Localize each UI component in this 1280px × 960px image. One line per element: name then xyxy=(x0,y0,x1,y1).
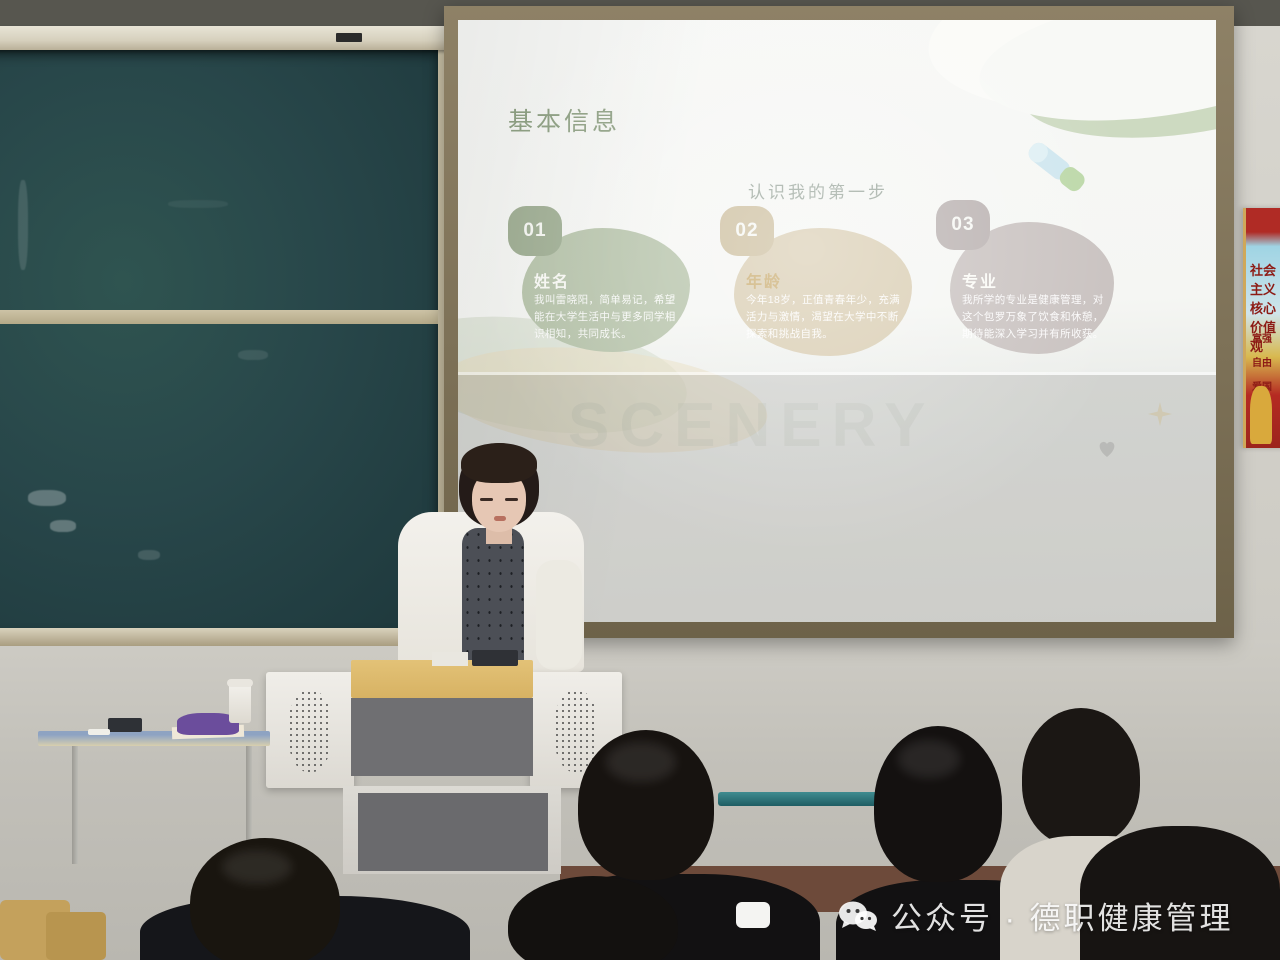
card-03-body: 我所学的专业是健康管理，对这个包罗万象了饮食和休憩，期待能深入学习并有所收获。 xyxy=(962,292,1106,343)
face-mask xyxy=(736,902,770,928)
student-head-far-right xyxy=(1022,708,1140,846)
slide-card-03: 03 专业 我所学的专业是健康管理，对这个包罗万象了饮食和休憩，期待能深入学习并… xyxy=(936,200,1136,368)
blackboard-chalk-ledge xyxy=(0,628,458,646)
slide-subtitle: 认识我的第一步 xyxy=(748,178,888,203)
card-02-badge: 02 xyxy=(720,206,774,256)
podium-front-panel xyxy=(351,698,533,776)
slide-card-02: 02 年龄 今年18岁，正值青春年少，充满活力与激情，渴望在大学中不断探索和挑战… xyxy=(720,206,930,370)
watermark: 公众号 · 德职健康管理 xyxy=(838,893,1234,938)
slide-title: 基本信息 xyxy=(508,102,620,138)
blackboard-label-plate xyxy=(336,33,362,42)
board-eraser xyxy=(108,718,142,732)
poster-statue-figure xyxy=(1250,386,1272,444)
podium-left-wing xyxy=(266,672,354,788)
card-02-heading: 年龄 xyxy=(746,268,782,292)
wechat-icon xyxy=(838,900,878,932)
poster-line-2: 自由 xyxy=(1252,354,1272,369)
chalk-stick xyxy=(88,729,110,735)
slide-card-01: 01 姓名 我叫雷晓阳，简单易记，希望能在大学生活中与更多同学相识相知，共同成长… xyxy=(508,206,708,366)
classroom-scene: SCENERY 基本信息 认识我的第一步 01 姓名 我叫雷晓阳，简单易记，希望… xyxy=(0,0,1280,960)
card-01-badge: 01 xyxy=(508,206,562,256)
card-03-heading: 专业 xyxy=(962,268,998,292)
card-01-body: 我叫雷晓阳，简单易记，希望能在大学生活中与更多同学相识相知，共同成长。 xyxy=(534,292,684,343)
podium-papers xyxy=(432,652,468,666)
desk-cup xyxy=(229,683,251,723)
card-03-badge: 03 xyxy=(936,200,990,250)
chair-back-left-2 xyxy=(46,912,106,960)
podium-base-panel xyxy=(358,793,548,871)
desk-leg-left xyxy=(72,746,78,864)
blackboard-top-rail xyxy=(0,26,450,50)
podium-device xyxy=(472,650,518,666)
desk-cup-lid xyxy=(227,679,253,687)
pen-icon xyxy=(1023,137,1093,199)
poster-line-1: 富强 xyxy=(1252,330,1272,345)
presenter-hair-front xyxy=(461,443,537,483)
watermark-text: 公众号 · 德职健康管理 xyxy=(891,893,1234,938)
blackboard-surface xyxy=(0,50,438,628)
blackboard-divider xyxy=(0,310,438,324)
presenter-right-arm xyxy=(536,560,582,670)
podium-left-speaker-grille xyxy=(288,690,332,772)
card-01-heading: 姓名 xyxy=(534,268,570,292)
card-02-body: 今年18岁，正值青春年少，充满活力与激情，渴望在大学中不断探索和挑战自我。 xyxy=(746,292,904,343)
values-poster: 社会主义核心价值观 富强 自由 爱国 xyxy=(1243,208,1280,448)
